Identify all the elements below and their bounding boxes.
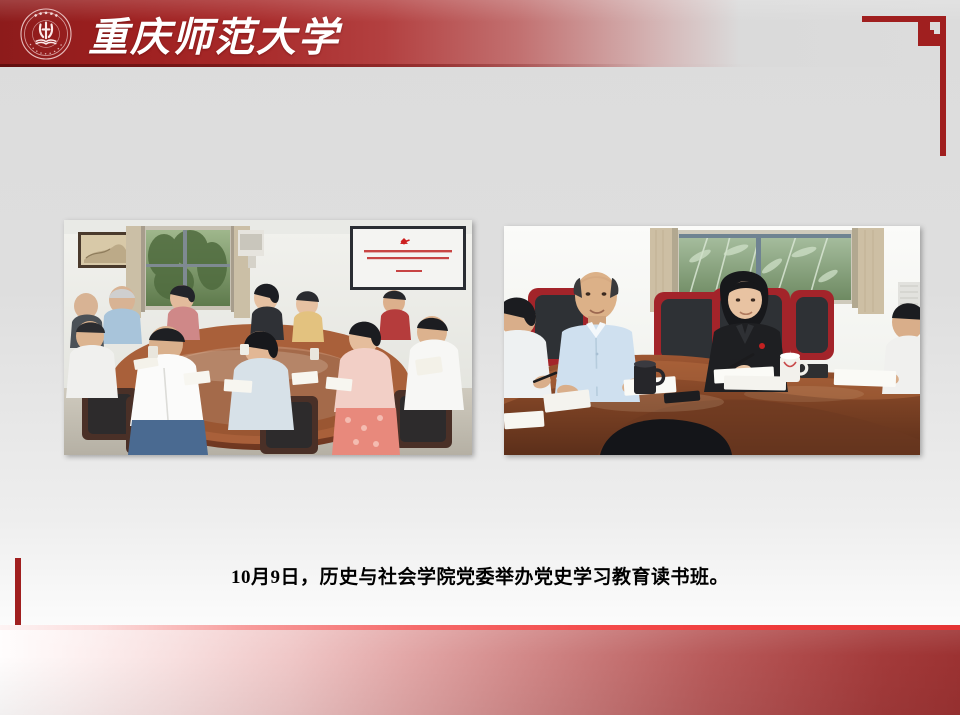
header-bottom-edge: [0, 64, 960, 67]
university-name-text: 重庆师范大学: [88, 6, 338, 62]
university-name-wordmark: 重庆师范大学: [88, 6, 338, 62]
footer-gradient-band: [0, 630, 960, 715]
university-emblem-icon: [20, 8, 72, 60]
footer-base-edge: [0, 715, 960, 720]
presentation-slide: 重庆师范大学: [0, 0, 960, 720]
photo-meeting-participants-closeup: [504, 226, 920, 455]
photo-meeting-room-wide: [64, 220, 472, 455]
meander-corner-ornament-top-right: [862, 8, 948, 158]
